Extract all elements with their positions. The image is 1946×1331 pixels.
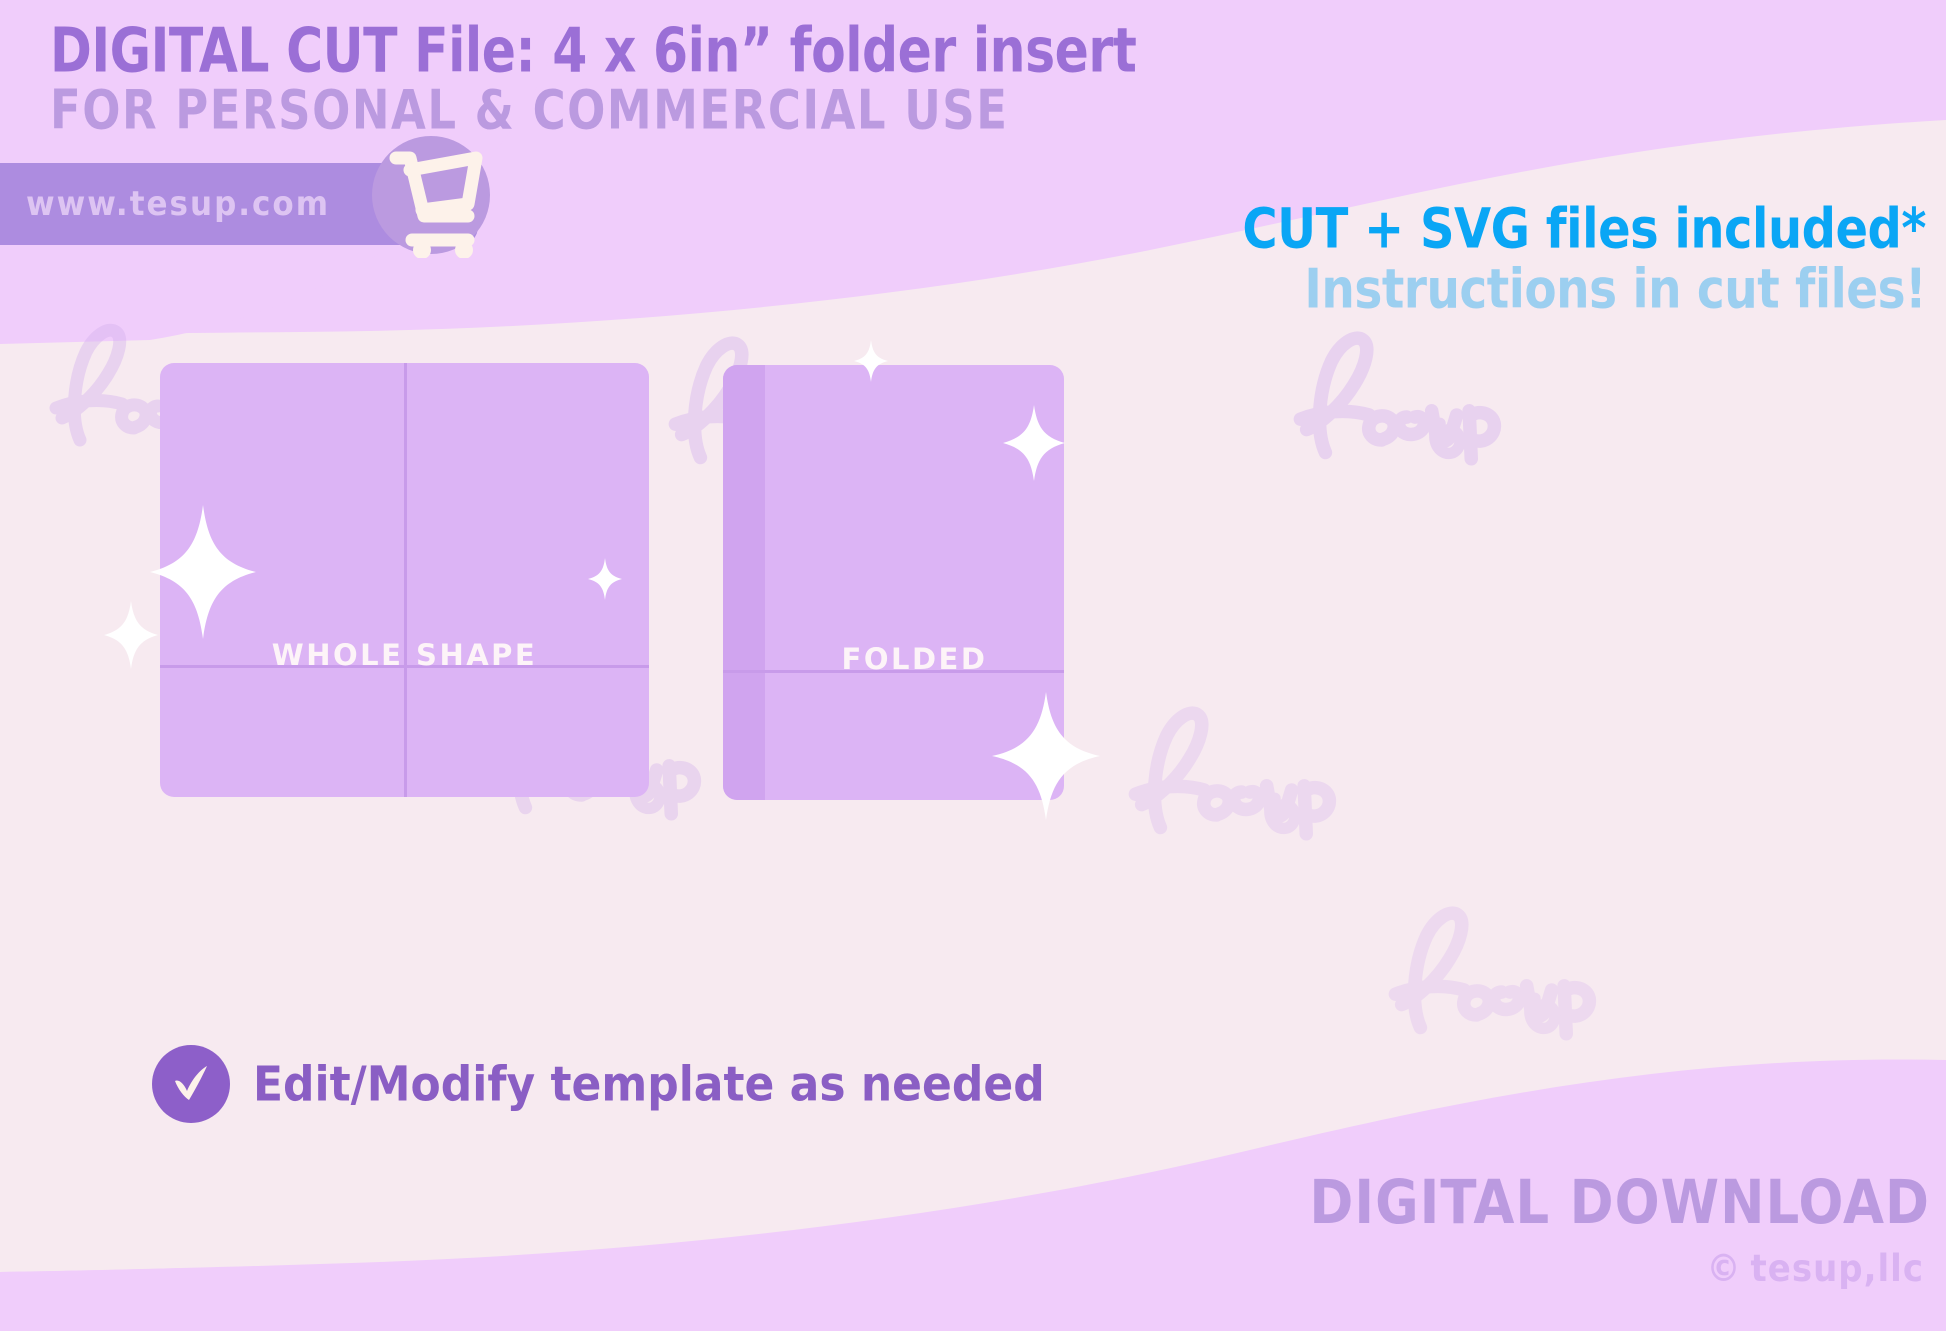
check-badge xyxy=(152,1045,230,1123)
template-preview-folded-shape[interactable]: FOLDED xyxy=(723,365,1064,800)
copyright-owner-label: tesup,llc xyxy=(1751,1247,1924,1291)
shopping-cart-icon xyxy=(380,140,490,258)
folded-spine-panel xyxy=(723,365,765,800)
poster-canvas: DIGITAL CUT File: 4 x 6in” folder insert… xyxy=(0,0,1946,1331)
copyright-notice: © tesup,llc xyxy=(1707,1247,1924,1291)
feature-edit-modify-row: Edit/Modify template as needed xyxy=(152,1045,1045,1123)
title-line-1: DIGITAL CUT File: 4 x 6in” folder insert xyxy=(50,16,1136,87)
template-preview-whole-shape[interactable]: WHOLE SHAPE xyxy=(160,363,649,797)
folded-shape-label: FOLDED xyxy=(765,642,1064,676)
whole-shape-label: WHOLE SHAPE xyxy=(160,638,649,672)
edit-modify-label: Edit/Modify template as needed xyxy=(253,1056,1045,1112)
vertical-fold-line xyxy=(404,363,407,797)
digital-download-label: DIGITAL DOWNLOAD xyxy=(1309,1168,1930,1238)
promo-line-2: Instructions in cut files! xyxy=(1304,258,1926,321)
check-mark-icon xyxy=(170,1064,212,1104)
promo-line-1: CUT + SVG files included* xyxy=(1242,197,1926,261)
page-title: DIGITAL CUT File: 4 x 6in” folder insert xyxy=(50,16,1170,76)
copyright-symbol-icon: © xyxy=(1707,1247,1742,1291)
title-line-2: FOR PERSONAL & COMMERCIAL USE xyxy=(50,78,1008,142)
shopping-cart-badge xyxy=(372,136,494,258)
website-url-label: www.tesup.com xyxy=(26,184,330,224)
